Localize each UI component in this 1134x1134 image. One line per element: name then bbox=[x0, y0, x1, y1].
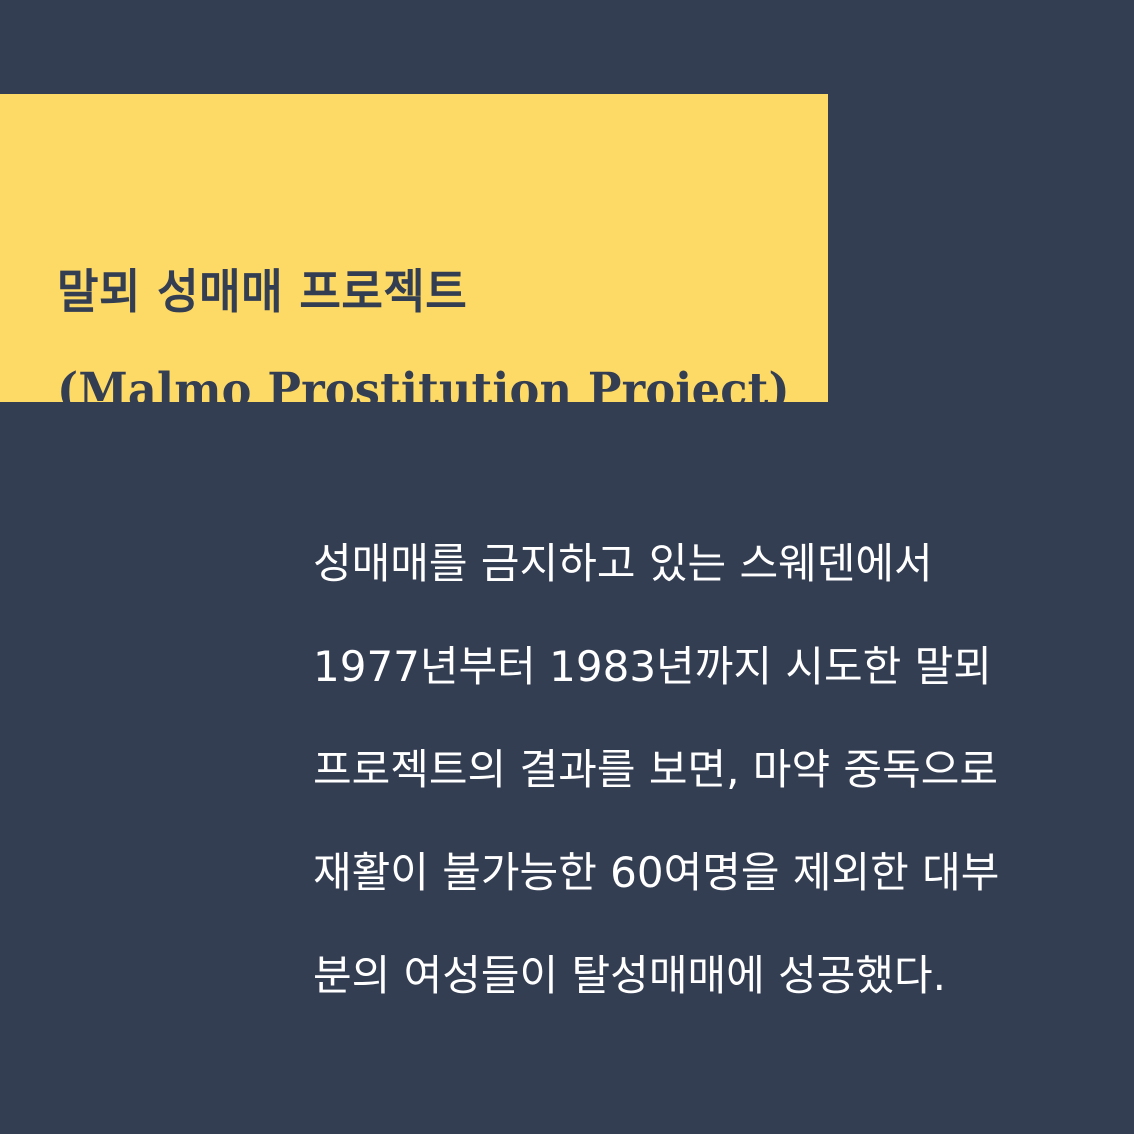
title-block: 말뫼 성매매 프로젝트 (Malmo Prostitution Project) bbox=[57, 262, 828, 422]
title-panel: 말뫼 성매매 프로젝트 (Malmo Prostitution Project) bbox=[0, 94, 828, 402]
body-line: 프로젝트의 결과를 보면, 마약 중독으로 bbox=[313, 718, 1003, 821]
info-card: 말뫼 성매매 프로젝트 (Malmo Prostitution Project)… bbox=[0, 0, 1134, 1134]
body-line: 1977년부터 1983년까지 시도한 말뫼 bbox=[313, 615, 1003, 718]
body-line: 분의 여성들이 탈성매매에 성공했다. bbox=[313, 924, 1003, 1027]
page-title-korean: 말뫼 성매매 프로젝트 bbox=[57, 262, 798, 324]
body-paragraph: 성매매를 금지하고 있는 스웨덴에서 1977년부터 1983년까지 시도한 말… bbox=[313, 512, 1003, 1027]
page-title-english: (Malmo Prostitution Project) bbox=[57, 360, 790, 422]
body-line: 재활이 불가능한 60여명을 제외한 대부 bbox=[313, 821, 1003, 924]
body-line: 성매매를 금지하고 있는 스웨덴에서 bbox=[313, 512, 1003, 615]
